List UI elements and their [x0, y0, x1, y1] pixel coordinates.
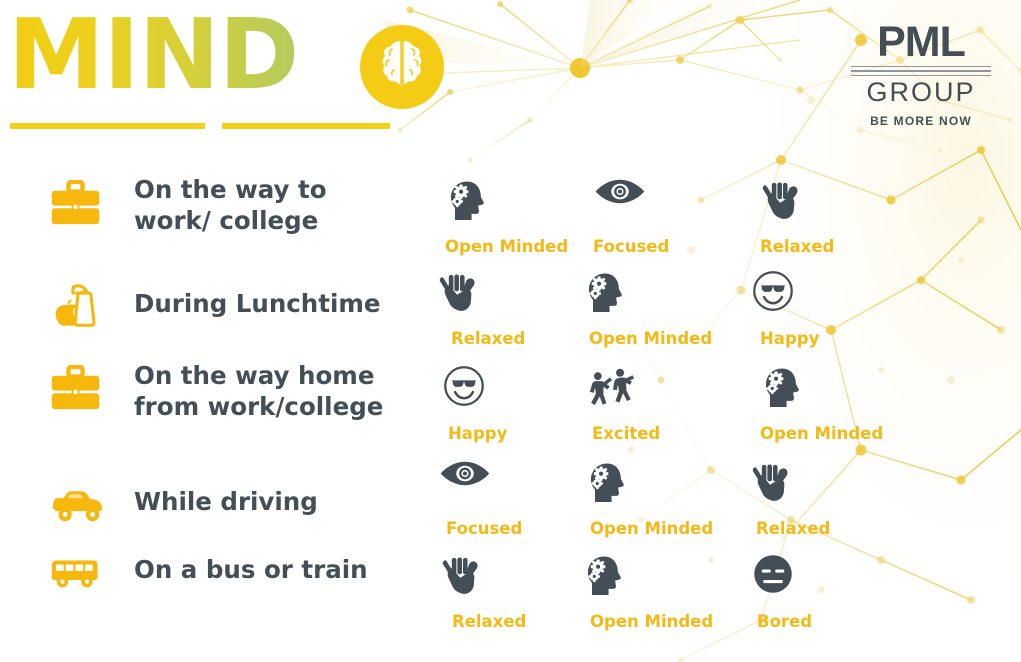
context-line-1: On a bus or train: [134, 555, 368, 584]
smiley-sunglasses-icon: [443, 365, 485, 407]
mood-label: Open Minded: [589, 329, 712, 348]
context-label: During Lunchtime: [134, 288, 414, 319]
briefcase-icon: [50, 180, 101, 226]
mood-icon: [437, 270, 478, 316]
logo-rule-3: [851, 75, 991, 77]
shaka-hand-icon: [437, 270, 478, 315]
mood-cell: [582, 553, 626, 599]
mood-label-wrap: Happy: [448, 417, 507, 443]
mood-label: Open Minded: [590, 612, 713, 631]
logo-group-text: GROUP: [851, 79, 991, 106]
mood-cell: [445, 178, 489, 224]
underline-bar-right: [222, 123, 390, 129]
context-label: On a bus or train: [134, 554, 414, 585]
mood-label: Relaxed: [452, 612, 526, 631]
mood-label: Open Minded: [760, 424, 883, 443]
underline-bar-left: [10, 123, 205, 129]
mood-label-wrap: Relaxed: [760, 230, 834, 256]
mood-label-wrap: Open Minded: [445, 230, 568, 256]
mood-label: Focused: [593, 237, 669, 256]
mood-icon: [752, 553, 794, 599]
mood-icon: [582, 553, 626, 599]
page-title: MIND: [8, 6, 298, 103]
mood-label-wrap: Relaxed: [756, 512, 830, 538]
mood-cell: [752, 270, 794, 316]
brain-icon: [357, 22, 447, 112]
mood-label-wrap: Open Minded: [589, 322, 712, 348]
mood-label: Relaxed: [760, 237, 834, 256]
head-gears-icon: [445, 178, 489, 224]
head-gears-icon: [585, 460, 629, 506]
mood-cell: [585, 460, 629, 506]
mood-cell: [437, 270, 478, 316]
mood-cell: [584, 365, 636, 411]
logo-rule-1: [851, 66, 991, 68]
mood-cell: [440, 553, 481, 599]
context-line-2: from work/college: [134, 392, 383, 421]
mood-icon: [584, 365, 636, 411]
briefcase-icon: [50, 365, 101, 411]
mood-label: Open Minded: [445, 237, 568, 256]
mood-label: Relaxed: [451, 329, 525, 348]
mood-label-wrap: Focused: [446, 512, 522, 538]
head-gears-icon: [760, 365, 804, 411]
mood-label-wrap: Relaxed: [451, 322, 525, 348]
context-icon: [50, 180, 108, 232]
title-underline: [10, 123, 390, 130]
infographic-canvas: MIND PML: [0, 0, 1021, 662]
mood-cell: [752, 553, 794, 599]
mood-cell: [443, 365, 485, 411]
mood-cell: [750, 460, 791, 506]
mood-label: Happy: [448, 424, 507, 443]
context-icon: [50, 282, 108, 334]
logo-rule-2: [851, 70, 991, 72]
mood-label-wrap: Open Minded: [590, 512, 713, 538]
mood-label: Relaxed: [756, 519, 830, 538]
mood-label: Bored: [757, 612, 812, 631]
bored-face-icon: [752, 553, 794, 595]
mood-icon: [445, 178, 489, 224]
context-label: On the way homefrom work/college: [134, 360, 414, 423]
shaka-hand-icon: [440, 553, 481, 598]
eye-icon: [440, 460, 490, 487]
dancing-people-icon: [584, 365, 636, 409]
pml-group-logo: PML GROUP BE MORE NOW: [851, 22, 991, 128]
mood-icon: [752, 270, 794, 316]
mood-icon: [583, 270, 627, 316]
mood-cell: [440, 460, 490, 506]
mood-label: Focused: [446, 519, 522, 538]
mood-icon: [760, 365, 804, 411]
context-icon: [50, 558, 108, 610]
mood-label-wrap: Happy: [760, 322, 819, 348]
context-line-2: work/ college: [134, 206, 318, 235]
logo-wordmark: PML: [851, 22, 991, 63]
mood-icon: [440, 553, 481, 599]
shaka-hand-icon: [760, 178, 801, 223]
mood-cell: [583, 270, 627, 316]
lunch-bag-icon: [50, 282, 100, 332]
mood-label-wrap: Open Minded: [590, 605, 713, 631]
mood-icon: [443, 365, 485, 411]
shaka-hand-icon: [750, 460, 791, 505]
mood-label: Excited: [592, 424, 660, 443]
bus-icon: [50, 558, 101, 589]
mood-cell: [760, 365, 804, 411]
mood-label: Open Minded: [590, 519, 713, 538]
context-label: While driving: [134, 486, 414, 517]
context-label: On the way towork/ college: [134, 174, 414, 237]
car-icon: [50, 490, 105, 524]
mood-label: Happy: [760, 329, 819, 348]
smiley-sunglasses-icon: [752, 270, 794, 312]
mood-icon: [440, 460, 490, 506]
mood-icon: [750, 460, 791, 506]
mood-cell: [595, 178, 645, 224]
mood-label-wrap: Bored: [757, 605, 812, 631]
content-grid: On the way towork/ collegeOpen MindedFoc…: [0, 160, 1021, 662]
head-gears-icon: [583, 270, 627, 316]
header: MIND PML: [0, 0, 1021, 150]
context-line-1: During Lunchtime: [134, 289, 380, 318]
head-gears-icon: [582, 553, 626, 599]
mood-icon: [595, 178, 645, 224]
mood-label-wrap: Open Minded: [760, 417, 883, 443]
mood-icon: [760, 178, 801, 224]
context-line-1: On the way to: [134, 175, 327, 204]
context-line-1: While driving: [134, 487, 318, 516]
context-icon: [50, 490, 108, 542]
mood-icon: [585, 460, 629, 506]
logo-tagline: BE MORE NOW: [851, 114, 991, 128]
mood-label-wrap: Focused: [593, 230, 669, 256]
eye-icon: [595, 178, 645, 205]
mood-label-wrap: Relaxed: [452, 605, 526, 631]
mood-cell: [760, 178, 801, 224]
mood-label-wrap: Excited: [592, 417, 660, 443]
context-line-1: On the way home: [134, 361, 374, 390]
context-icon: [50, 365, 108, 417]
